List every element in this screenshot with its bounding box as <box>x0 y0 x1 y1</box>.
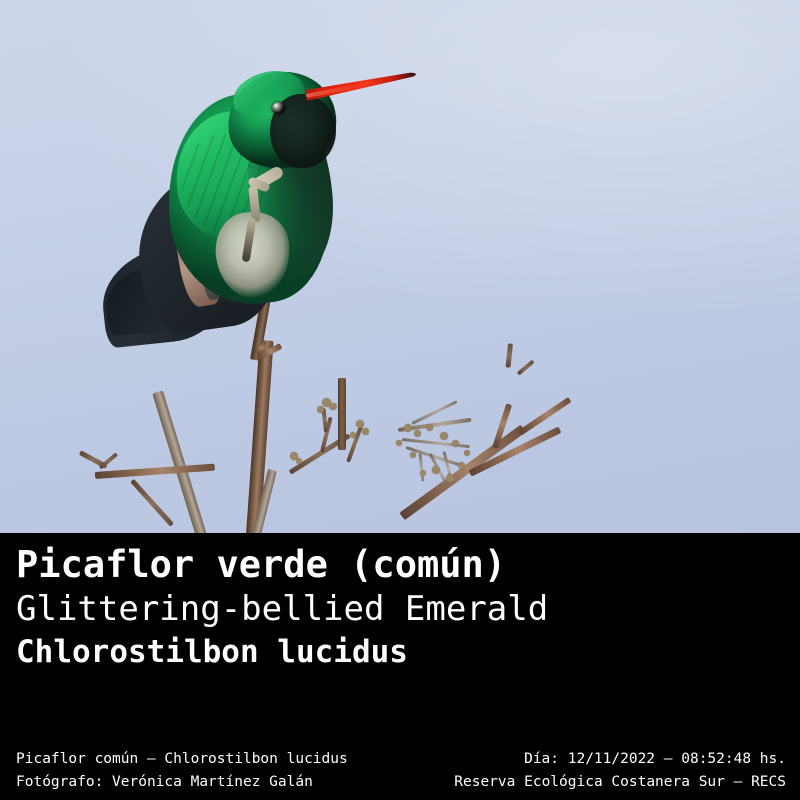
footer-location: Reserva Ecológica Costanera Sur – RECS <box>454 771 786 794</box>
hummingbird <box>120 50 420 350</box>
common-name-spanish: Picaflor verde (común) <box>16 543 616 587</box>
footer-datetime: Día: 12/11/2022 – 08:52:48 hs. <box>454 748 786 771</box>
footer-species: Picaflor común – Chlorostilbon lucidus <box>16 748 348 771</box>
footer-right: Día: 12/11/2022 – 08:52:48 hs. Reserva E… <box>454 748 786 794</box>
common-name-english: Glittering-bellied Emerald <box>16 587 616 631</box>
photograph <box>0 0 800 533</box>
scientific-name: Chlorostilbon lucidus <box>16 631 616 673</box>
footer-photographer: Fotógrafo: Verónica Martínez Galán <box>16 771 348 794</box>
footer-left: Picaflor común – Chlorostilbon lucidus F… <box>16 748 348 794</box>
bird-photo-card: Picaflor verde (común) Glittering-bellie… <box>0 0 800 800</box>
footer-bar: Picaflor común – Chlorostilbon lucidus F… <box>0 742 800 800</box>
title-block: Picaflor verde (común) Glittering-bellie… <box>16 543 616 683</box>
bird-eye <box>272 102 285 114</box>
